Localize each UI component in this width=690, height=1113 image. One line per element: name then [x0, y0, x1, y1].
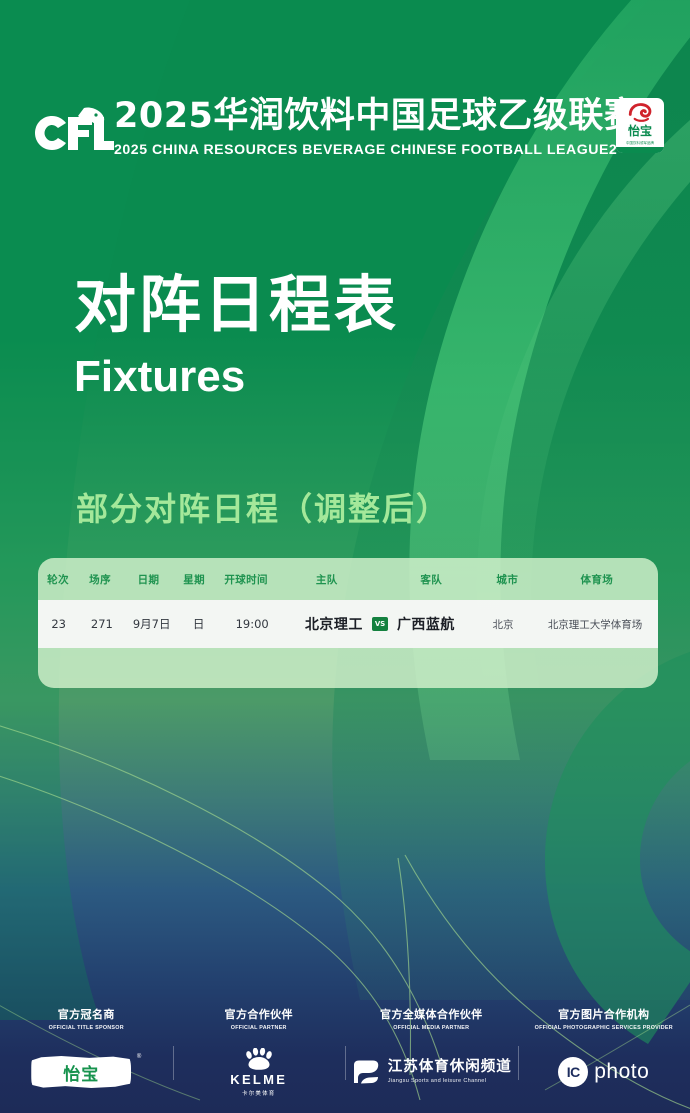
paw-print-icon — [242, 1048, 276, 1070]
sponsor-official-partner: 官方合作伙伴 OFFICIAL PARTNER KELME 卡尔美体育 — [173, 988, 346, 1113]
icphoto-logo: IC photo — [558, 1051, 649, 1093]
home-team-name: 北京理工 — [305, 614, 363, 634]
fixtures-table: 轮次 场序 日期 星期 开球时间 主队 客队 城市 体育场 23 271 9月7… — [38, 558, 658, 648]
league-title-en: 2025 CHINA RESOURCES BEVERAGE CHINESE FO… — [114, 142, 602, 158]
cell-round: 23 — [38, 617, 79, 631]
sponsor-label-cn: 官方冠名商 — [58, 1006, 115, 1022]
league-header: 2025华润饮料中国足球乙级联赛 2025 CHINA RESOURCES BE… — [0, 90, 690, 180]
sponsor-label-en: OFFICIAL MEDIA PARTNER — [393, 1025, 469, 1031]
jiangsu-mark-icon — [351, 1058, 381, 1086]
league-title-cn: 2025华润饮料中国足球乙级联赛 — [114, 96, 604, 137]
yibao-logo: 怡宝 ® — [31, 1051, 141, 1093]
sponsor-label-en: OFFICIAL PHOTOGRAPHIC SERVICES PROVIDER — [535, 1025, 673, 1031]
away-team-name: 广西蓝航 — [397, 614, 455, 634]
yibao-registered-mark: ® — [137, 1054, 141, 1060]
col-header-order: 场序 — [78, 572, 122, 587]
jiangsu-logo-sub: Jiangsu Sports and leisure Channel — [388, 1078, 512, 1084]
col-header-kickoff: 开球时间 — [213, 572, 279, 587]
sponsor-title-sponsor: 官方冠名商 OFFICIAL TITLE SPONSOR 怡宝 ® — [0, 988, 173, 1113]
poster-root: 2025华润饮料中国足球乙级联赛 2025 CHINA RESOURCES BE… — [0, 0, 690, 1113]
yibao-badge-tagline: 中国饮料领军品牌 — [626, 140, 654, 145]
cfl-logo-icon — [32, 102, 114, 158]
kelme-logo: KELME 卡尔美体育 — [230, 1051, 287, 1093]
page-title-cn: 对阵日程表 — [74, 272, 399, 339]
hero-title-block: 对阵日程表 Fixtures — [74, 272, 399, 401]
col-header-home: 主队 — [279, 572, 375, 587]
cell-match: 北京理工 VS 广西蓝航 — [286, 614, 474, 634]
col-header-date: 日期 — [122, 572, 175, 587]
page-title-en: Fixtures — [74, 353, 399, 401]
jiangsu-logo-text: 江苏体育休闲频道 — [388, 1060, 512, 1076]
sponsor-label-en: OFFICIAL PARTNER — [231, 1025, 287, 1031]
icphoto-mark: IC — [558, 1057, 588, 1087]
page-subtitle: 部分对阵日程（调整后） — [76, 484, 450, 530]
sponsor-footer: 官方冠名商 OFFICIAL TITLE SPONSOR 怡宝 ® 官方合作伙伴… — [0, 988, 690, 1113]
cell-kickoff: 19:00 — [218, 617, 286, 631]
fixtures-panel: 轮次 场序 日期 星期 开球时间 主队 客队 城市 体育场 23 271 9月7… — [38, 558, 658, 688]
col-header-weekday: 星期 — [175, 572, 213, 587]
yibao-sponsor-badge: 怡宝 中国饮料领军品牌 — [616, 98, 664, 153]
sponsor-label-cn: 官方合作伙伴 — [225, 1006, 293, 1022]
sponsor-photo-provider: 官方图片合作机构 OFFICIAL PHOTOGRAPHIC SERVICES … — [518, 988, 690, 1113]
fixtures-table-header: 轮次 场序 日期 星期 开球时间 主队 客队 城市 体育场 — [38, 558, 658, 600]
col-header-venue: 体育场 — [536, 572, 658, 587]
league-title-block: 2025华润饮料中国足球乙级联赛 2025 CHINA RESOURCES BE… — [114, 96, 604, 158]
cell-weekday: 日 — [179, 616, 218, 632]
col-header-teams: 主队 客队 — [279, 572, 479, 587]
yibao-badge-bar — [616, 147, 664, 153]
cell-date: 9月7日 — [124, 616, 178, 632]
jiangsu-sports-logo: 江苏体育休闲频道 Jiangsu Sports and leisure Chan… — [351, 1051, 512, 1093]
col-header-round: 轮次 — [38, 572, 78, 587]
sponsor-grid: 官方冠名商 OFFICIAL TITLE SPONSOR 怡宝 ® 官方合作伙伴… — [0, 988, 690, 1113]
col-header-away: 客队 — [384, 572, 480, 587]
cell-venue: 北京理工大学体育场 — [532, 617, 658, 632]
cell-order: 271 — [79, 617, 124, 631]
kelme-logo-sub: 卡尔美体育 — [242, 1089, 276, 1097]
sponsor-label-cn: 官方全媒体合作伙伴 — [380, 1006, 483, 1022]
sponsor-label-en: OFFICIAL TITLE SPONSOR — [49, 1025, 124, 1031]
kelme-logo-text: KELME — [230, 1072, 287, 1087]
cell-city: 北京 — [474, 617, 532, 632]
col-header-city: 城市 — [479, 572, 536, 587]
sponsor-label-cn: 官方图片合作机构 — [558, 1006, 649, 1022]
icphoto-logo-text: photo — [594, 1060, 649, 1084]
table-row[interactable]: 23 271 9月7日 日 19:00 北京理工 VS 广西蓝航 北京 北京理工… — [38, 600, 658, 648]
vs-badge: VS — [372, 617, 388, 631]
yibao-swirl-icon — [626, 102, 654, 123]
yibao-badge-text: 怡宝 — [628, 125, 652, 137]
yibao-logo-text: 怡宝 — [63, 1060, 99, 1085]
sponsor-media-partner: 官方全媒体合作伙伴 OFFICIAL MEDIA PARTNER 江苏体育休闲频… — [345, 988, 518, 1113]
